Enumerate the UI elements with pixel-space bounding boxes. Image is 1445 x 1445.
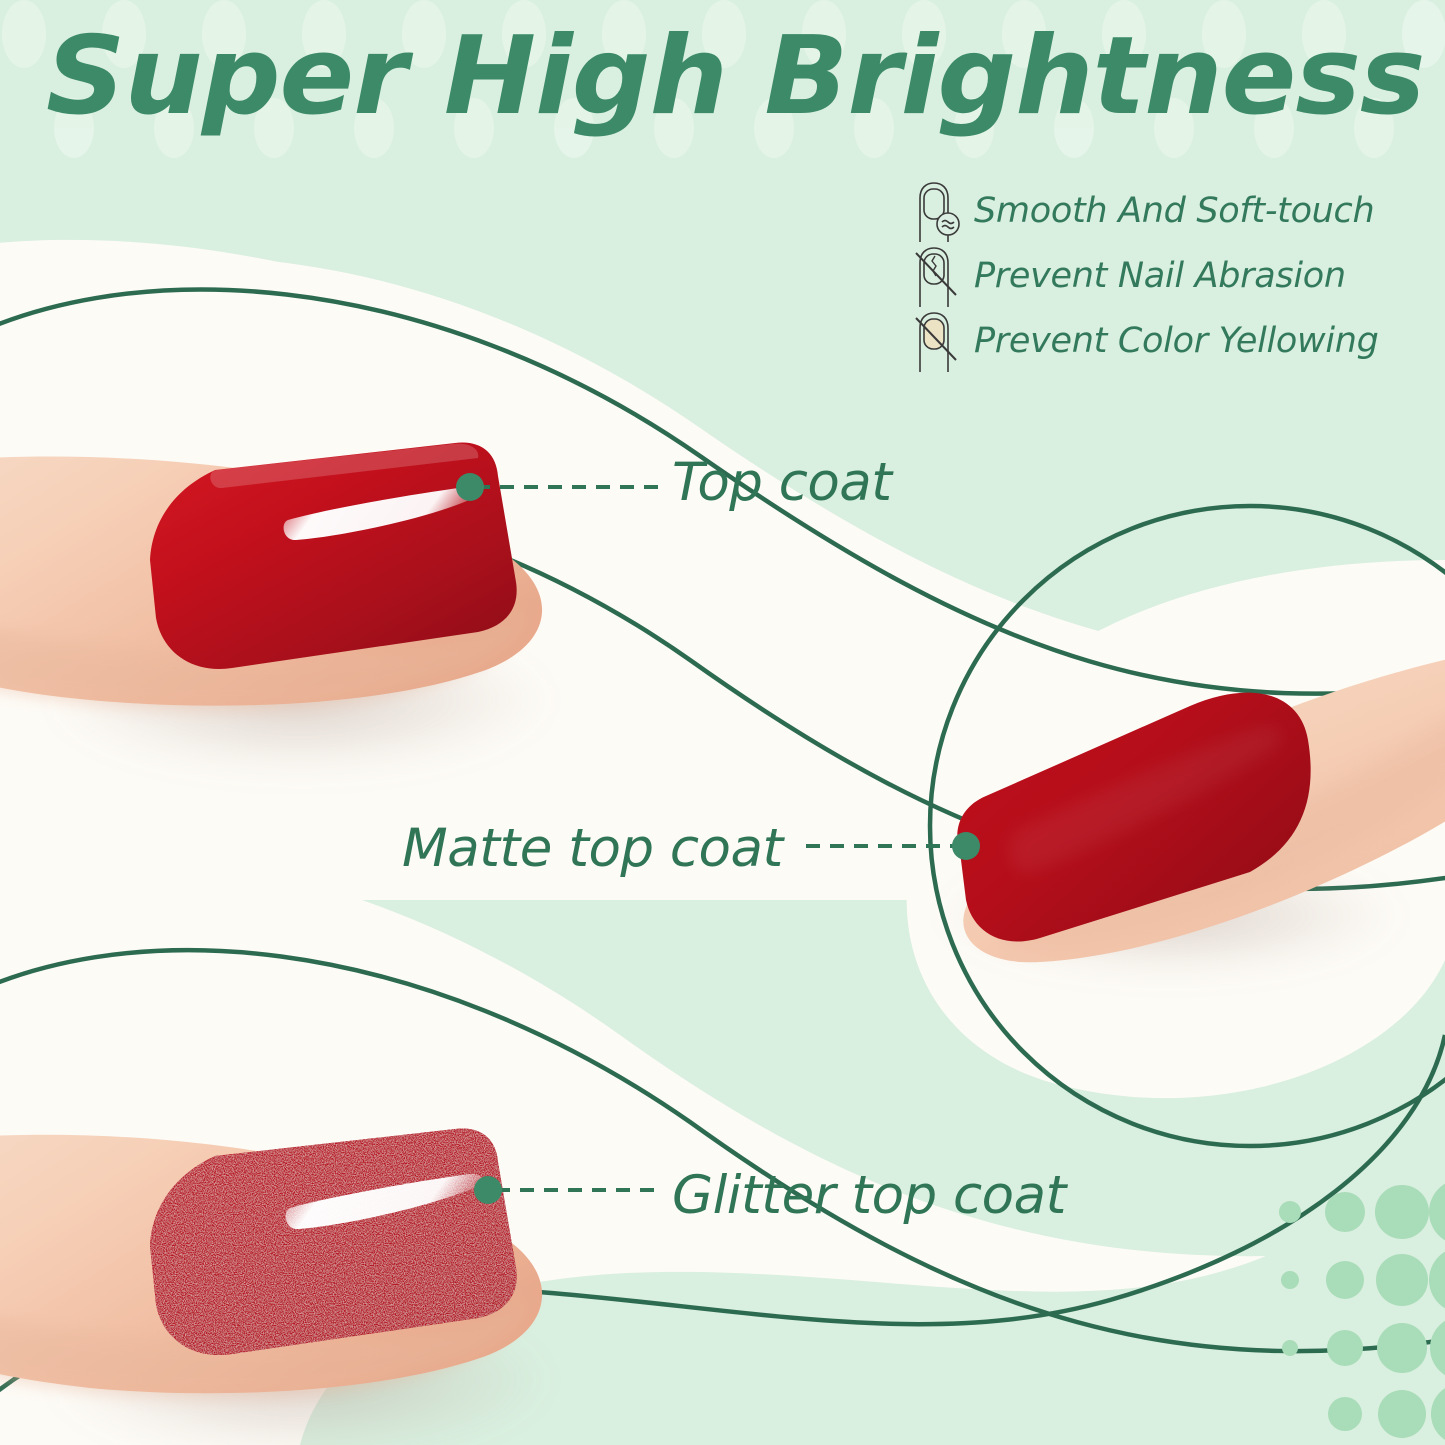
marker-dot-matte-coat	[952, 832, 980, 860]
product-infographic: Super High Brightness Smooth And Soft-to…	[0, 0, 1445, 1445]
nail-abrasion-crossed-icon	[912, 245, 962, 307]
page-title: Super High Brightness	[46, 20, 1433, 133]
feature-item-abrasion: Prevent Nail Abrasion	[912, 243, 1422, 308]
feature-list: Smooth And Soft-touch Prevent Nail Abras…	[912, 178, 1422, 373]
marker-dot-top-coat	[456, 473, 484, 501]
callout-label-top-coat: Top coat	[672, 452, 892, 513]
feature-label-abrasion: Prevent Nail Abrasion	[974, 256, 1346, 296]
feature-item-smooth: Smooth And Soft-touch	[912, 178, 1422, 243]
nail-photo-glitter-coat	[0, 1129, 550, 1445]
marker-dot-glitter-coat	[474, 1176, 502, 1204]
feature-label-smooth: Smooth And Soft-touch	[974, 191, 1374, 231]
callout-label-glitter-coat: Glitter top coat	[672, 1165, 1066, 1226]
feature-item-yellowing: Prevent Color Yellowing	[912, 308, 1422, 373]
nail-yellowing-crossed-icon	[912, 310, 962, 372]
feature-label-yellowing: Prevent Color Yellowing	[974, 321, 1379, 361]
nail-smooth-wave-icon	[912, 180, 962, 242]
callout-label-matte-coat: Matte top coat	[402, 818, 783, 879]
